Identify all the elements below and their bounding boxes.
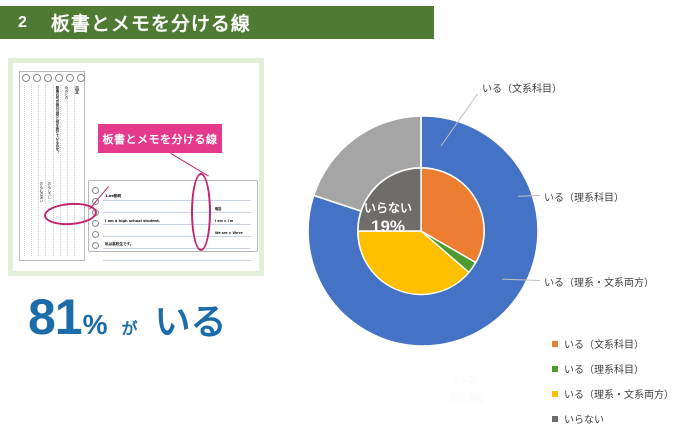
legend-item: いる（理系科目） xyxy=(552,361,674,376)
right-notebook-line-2-right: I am = I'm xyxy=(215,219,233,223)
chart-callout-label-rikei: いる（理系科目） xyxy=(544,189,624,204)
callout-leader-right xyxy=(170,153,208,177)
chart-callout-label-bunkei: いる（文系科目） xyxy=(482,80,562,95)
left-notebook-col-5: おもむき深い xyxy=(38,182,42,202)
notebook-rules xyxy=(24,85,81,256)
legend-swatch-both xyxy=(552,391,558,397)
right-notebook-line-3-left: 私は高校生です。 xyxy=(105,242,133,247)
right-notebook-line-2-left: I am a high school student. xyxy=(105,219,160,223)
pink-callout-label: 板書とメモを分ける線 xyxy=(98,124,222,153)
slice-label-iru-value: 81% xyxy=(426,389,506,409)
notebook-illustration-card: 古文 陸奥の句の部分は何と何を掛けているのか？ めのとの おもしろし おもむき深… xyxy=(8,58,264,276)
slice-label-iru: いる 81% xyxy=(426,374,506,408)
legend-label-rikei: いる（理系科目） xyxy=(564,361,644,376)
section-header-bar: 2 板書とメモを分ける線 xyxy=(0,6,434,39)
pie-of-pie-chart: いらない 19% いる 81% いる（文系科目） いる（理系科目） いる（理系・… xyxy=(282,58,700,433)
left-notebook-col-2: めのとの xyxy=(63,86,67,100)
legend-swatch-bunkei xyxy=(552,341,558,347)
legend-label-iranai: いらない xyxy=(564,411,604,426)
legend-item: いる（理系・文系両方） xyxy=(552,386,674,401)
highlight-ellipse-right xyxy=(191,173,211,251)
stat-number: 81 xyxy=(28,288,82,346)
slide-root: 2 板書とメモを分ける線 古文 陸奥の句の部分は何と何を掛けているのか？ めのと… xyxy=(0,0,700,433)
stat-particle: が xyxy=(122,315,138,339)
slice-label-iranai-value: 19% xyxy=(348,217,428,237)
legend-label-bunkei: いる（文系科目） xyxy=(564,336,644,351)
legend-item: いる（文系科目） xyxy=(552,336,674,351)
right-notebook: 1.be動詞 略語 I am a high school student. I … xyxy=(88,180,258,252)
left-notebook-col-4: おもしろし xyxy=(46,182,50,199)
chart-callout-label-both: いる（理系・文系両方） xyxy=(544,274,654,289)
legend-swatch-iranai xyxy=(552,416,558,422)
left-notebook: 古文 陸奥の句の部分は何と何を掛けているのか？ めのとの おもしろし おもむき深… xyxy=(19,71,85,261)
left-notebook-col-3: 陸奥の句の部分は何と何を掛けているのか？ xyxy=(54,86,58,154)
legend-swatch-rikei xyxy=(552,366,558,372)
right-notebook-lines: 1.be動詞 略語 I am a high school student. I … xyxy=(103,189,251,261)
notebook-illustration: 古文 陸奥の句の部分は何と何を掛けているのか？ めのとの おもしろし おもむき深… xyxy=(13,63,259,271)
slice-label-iranai: いらない 19% xyxy=(348,202,428,236)
section-number: 2 xyxy=(18,14,27,32)
pie-graphic: いらない 19% いる 81% xyxy=(300,110,542,352)
headline-statistic: 81 % が いる xyxy=(28,288,227,346)
slice-label-iranai-name: いらない xyxy=(364,201,412,215)
left-notebook-col-title: 古文 xyxy=(75,86,79,94)
legend-item: いらない xyxy=(552,411,674,426)
slice-label-iru-name: いる xyxy=(454,373,478,387)
stat-answer: いる xyxy=(155,293,227,345)
ring-holes-icon xyxy=(22,74,85,82)
right-notebook-line-1-left: 1.be動詞 xyxy=(105,194,121,199)
legend-label-both: いる（理系・文系両方） xyxy=(564,386,674,401)
stat-percent-sign: % xyxy=(83,309,108,341)
page-title: 板書とメモを分ける線 xyxy=(51,9,251,36)
right-notebook-line-3-right: We are = We're xyxy=(215,231,243,235)
pink-callout-text: 板書とメモを分ける線 xyxy=(103,131,218,147)
chart-legend: いる（文系科目） いる（理系科目） いる（理系・文系両方） いらない xyxy=(552,336,674,436)
right-notebook-line-1-right: 略語 xyxy=(215,206,221,211)
